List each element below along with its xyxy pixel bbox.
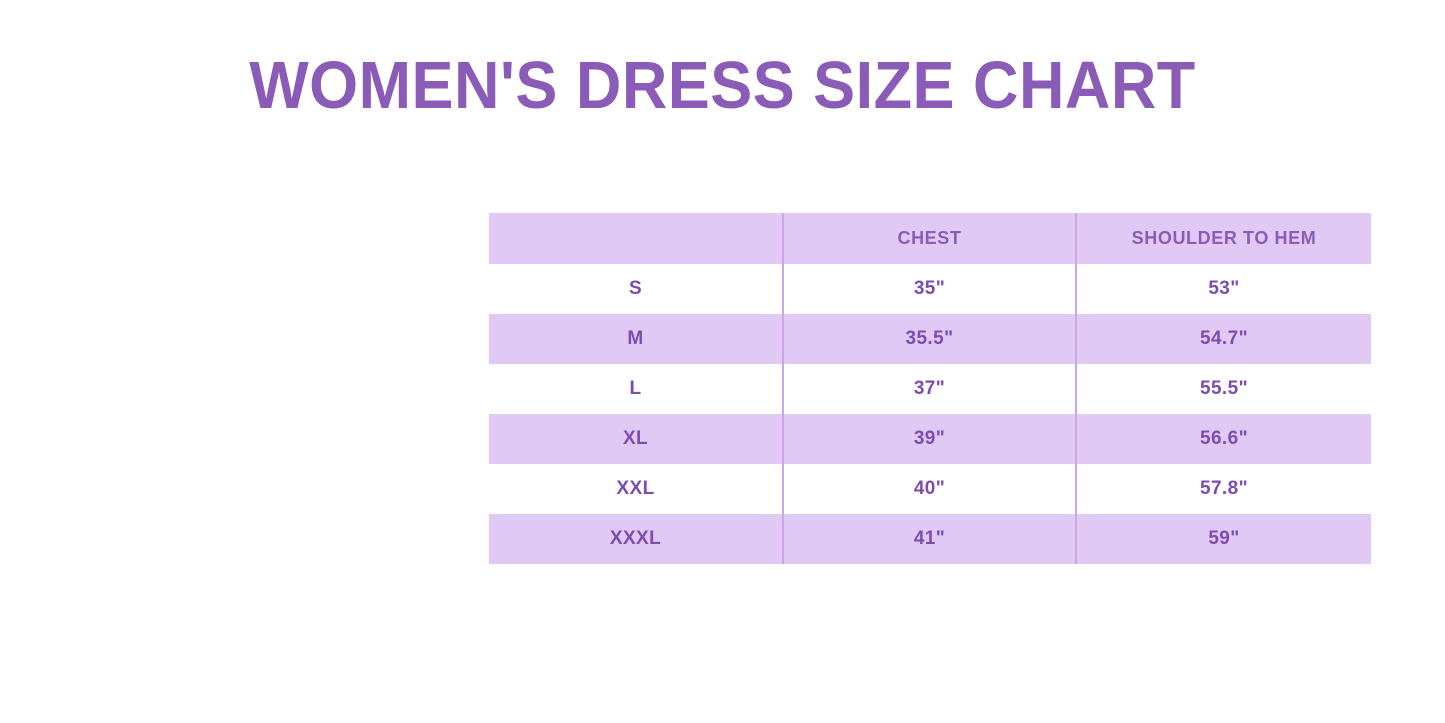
cell-size: S — [489, 264, 783, 314]
cell-shoulder-to-hem: 54.7" — [1076, 314, 1371, 364]
cell-chest: 37" — [783, 364, 1076, 414]
table-body: S 35" 53" M 35.5" 54.7" L 37" 55.5" XL 3… — [489, 264, 1371, 564]
cell-size: XL — [489, 414, 783, 464]
table-row: M 35.5" 54.7" — [489, 314, 1371, 364]
size-chart-page: WOMEN'S DRESS SIZE CHART CHEST SHOULDER … — [0, 0, 1445, 723]
table-header: CHEST SHOULDER TO HEM — [489, 213, 1371, 264]
table-row: XXXL 41" 59" — [489, 514, 1371, 564]
column-header-shoulder-to-hem: SHOULDER TO HEM — [1076, 213, 1371, 264]
cell-chest: 40" — [783, 464, 1076, 514]
size-chart-table: CHEST SHOULDER TO HEM S 35" 53" M 35.5" … — [489, 213, 1371, 564]
cell-size: L — [489, 364, 783, 414]
table-row: S 35" 53" — [489, 264, 1371, 314]
column-header-chest: CHEST — [783, 213, 1076, 264]
cell-size: XXXL — [489, 514, 783, 564]
column-header-size — [489, 213, 783, 264]
cell-shoulder-to-hem: 57.8" — [1076, 464, 1371, 514]
cell-shoulder-to-hem: 53" — [1076, 264, 1371, 314]
table-row: XL 39" 56.6" — [489, 414, 1371, 464]
cell-shoulder-to-hem: 59" — [1076, 514, 1371, 564]
table-row: L 37" 55.5" — [489, 364, 1371, 414]
page-title: WOMEN'S DRESS SIZE CHART — [43, 52, 1401, 119]
table-row: XXL 40" 57.8" — [489, 464, 1371, 514]
table-header-row: CHEST SHOULDER TO HEM — [489, 213, 1371, 264]
cell-chest: 41" — [783, 514, 1076, 564]
cell-chest: 35" — [783, 264, 1076, 314]
cell-shoulder-to-hem: 56.6" — [1076, 414, 1371, 464]
cell-shoulder-to-hem: 55.5" — [1076, 364, 1371, 414]
cell-chest: 35.5" — [783, 314, 1076, 364]
cell-chest: 39" — [783, 414, 1076, 464]
cell-size: XXL — [489, 464, 783, 514]
cell-size: M — [489, 314, 783, 364]
